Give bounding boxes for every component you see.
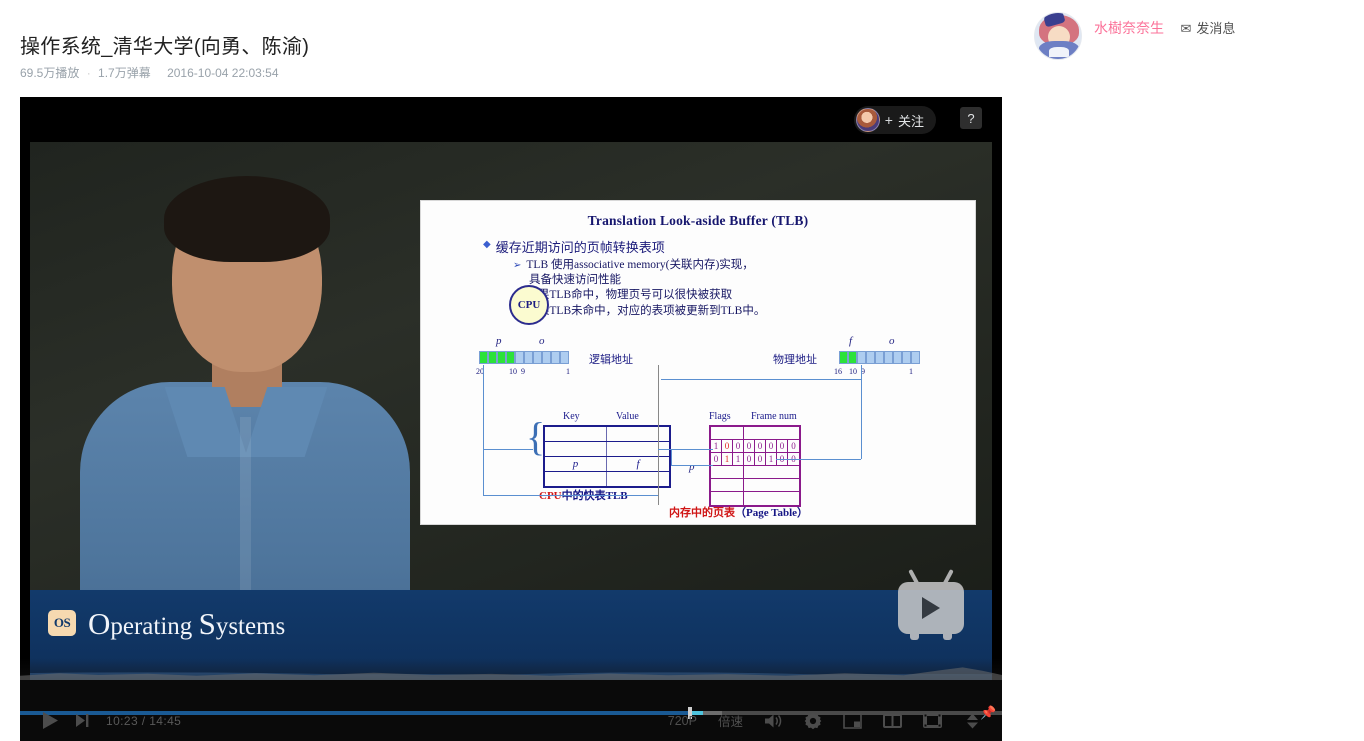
meta-separator: ·: [87, 66, 91, 80]
slide-sub-2: 具备快速访问性能: [529, 273, 975, 288]
bilibili-video-page: 操作系统_清华大学(向勇、陈渝) 69.5万播放 · 1.7万弹幕 2016-1…: [0, 0, 1364, 741]
sidebar: 水樹奈奈生 ✉发消息 + 关注 6240 弹幕列表 ⋮ 展开 视频选集 ☰ 17…: [1020, 0, 1364, 741]
slide-bullet-text: 缓存近期访问的页帧转换表项: [496, 237, 665, 256]
page-table-caption-red: 内存中的页表: [669, 507, 735, 519]
arrow-bullet-icon: ➢: [513, 258, 521, 273]
physical-address-bits: [839, 351, 920, 364]
player-top-overlay: + 关注 ?: [20, 97, 1002, 143]
tlb-value-f: f: [607, 457, 669, 471]
player-controls: 📌 10:23 / 14:45 720P 倍速: [20, 680, 1002, 741]
plus-icon: +: [885, 112, 893, 128]
video-stage: Translation Look-aside Buffer (TLB) ◆ 缓存…: [30, 142, 992, 680]
overlay-follow-label: 关注: [898, 111, 924, 130]
tlb-value-header: Value: [616, 411, 639, 422]
uploader-name[interactable]: 水樹奈奈生: [1094, 20, 1164, 36]
physical-bit-1: 1: [909, 367, 913, 376]
progress-heatmap: [20, 658, 1002, 680]
slide-sub-bullets: ➢ TLB 使用associative memory(关联内存)实现， 具备快速…: [513, 258, 975, 319]
controls-right: 720P 倍速: [668, 711, 982, 730]
picture-in-picture-icon[interactable]: [843, 713, 862, 729]
physical-o-label: o: [889, 335, 895, 347]
page-title: 操作系统_清华大学(向勇、陈渝): [20, 30, 309, 59]
fullscreen-icon[interactable]: [963, 713, 982, 729]
tlb-key-header: Key: [563, 411, 580, 422]
time-display: 10:23 / 14:45: [106, 714, 181, 728]
lecture-slide: Translation Look-aside Buffer (TLB) ◆ 缓存…: [420, 200, 976, 525]
tlb-caption-rest: 中的快表TLB: [562, 490, 628, 502]
slide-bullet: ◆ 缓存近期访问的页帧转换表项: [483, 237, 975, 256]
physical-bit-10: 10: [849, 367, 857, 376]
danmaku-count: 1.7万弹幕: [98, 66, 151, 80]
physical-address-label: 物理地址: [773, 351, 817, 367]
view-count: 69.5万播放: [20, 66, 79, 80]
slide-title: Translation Look-aside Buffer (TLB): [421, 213, 975, 229]
slide-sub-1: TLB 使用associative memory(关联内存)实现，: [526, 258, 753, 273]
next-episode-icon[interactable]: [75, 713, 90, 728]
diamond-bullet-icon: ◆: [483, 237, 491, 253]
page-index-p: p: [689, 461, 695, 473]
overlay-follow-button[interactable]: + 关注: [854, 106, 936, 134]
page-table-caption-rest: （Page Table）: [735, 507, 808, 519]
page-table: 1 0 0 0 0 0 0 0 0 1: [709, 425, 801, 507]
speed-selector[interactable]: 倍速: [718, 711, 743, 730]
tlb-caption-red: CPU: [539, 490, 562, 502]
avatar: [856, 108, 880, 132]
bilibili-tv-watermark-icon: [898, 582, 964, 634]
quality-selector[interactable]: 720P: [668, 714, 697, 728]
help-icon[interactable]: ?: [960, 107, 982, 129]
tlb-diagram: CPU p o 20 10 9 1 逻辑地址: [421, 349, 976, 525]
volume-icon[interactable]: [764, 713, 783, 729]
logical-bit-9: 9: [521, 367, 525, 376]
video-meta: 69.5万播放 · 1.7万弹幕 2016-10-04 22:03:54: [20, 64, 279, 81]
physical-f-label: f: [849, 335, 852, 347]
physical-bit-16: 16: [834, 367, 842, 376]
envelope-icon: ✉: [1180, 21, 1191, 36]
main-content: 操作系统_清华大学(向勇、陈渝) 69.5万播放 · 1.7万弹幕 2016-1…: [0, 0, 1020, 741]
logical-address-bits: [479, 351, 569, 364]
slide-sub-3: 如果TLB命中，物理页号可以很快被获取: [526, 288, 732, 303]
video-player[interactable]: Translation Look-aside Buffer (TLB) ◆ 缓存…: [20, 97, 1002, 741]
wide-screen-icon[interactable]: [883, 714, 902, 728]
settings-gear-icon[interactable]: [804, 712, 822, 730]
page-table-caption: 内存中的页表（Page Table）: [669, 504, 808, 520]
cpu-node: CPU: [509, 285, 549, 325]
os-banner-text: Operating Systems: [88, 606, 285, 642]
control-row: 10:23 / 14:45 720P 倍速: [20, 700, 1002, 741]
tlb-table: pf: [543, 425, 671, 488]
send-message-label: 发消息: [1196, 21, 1235, 36]
uploader-row: 水樹奈奈生 ✉发消息: [1034, 12, 1235, 60]
avatar[interactable]: [1034, 12, 1082, 60]
send-message-button[interactable]: ✉发消息: [1180, 21, 1235, 36]
logical-address-label: 逻辑地址: [589, 351, 633, 367]
tlb-key-p: p: [545, 457, 607, 471]
logical-p-label: p: [496, 335, 502, 347]
slide-sub-4: 如果TLB未命中，对应的表项被更新到TLB中。: [526, 304, 765, 319]
web-fullscreen-icon[interactable]: [923, 713, 942, 728]
logical-bit-1: 1: [566, 367, 570, 376]
publish-date: 2016-10-04 22:03:54: [167, 66, 278, 80]
logical-o-label: o: [539, 335, 545, 347]
os-logo-chip: OS: [48, 610, 76, 636]
play-icon[interactable]: [42, 711, 59, 730]
controls-left: 10:23 / 14:45: [42, 711, 181, 730]
page-table-flags-header: Flags: [709, 411, 731, 422]
logical-bit-10: 10: [509, 367, 517, 376]
page-table-frame-header: Frame num: [751, 411, 797, 422]
